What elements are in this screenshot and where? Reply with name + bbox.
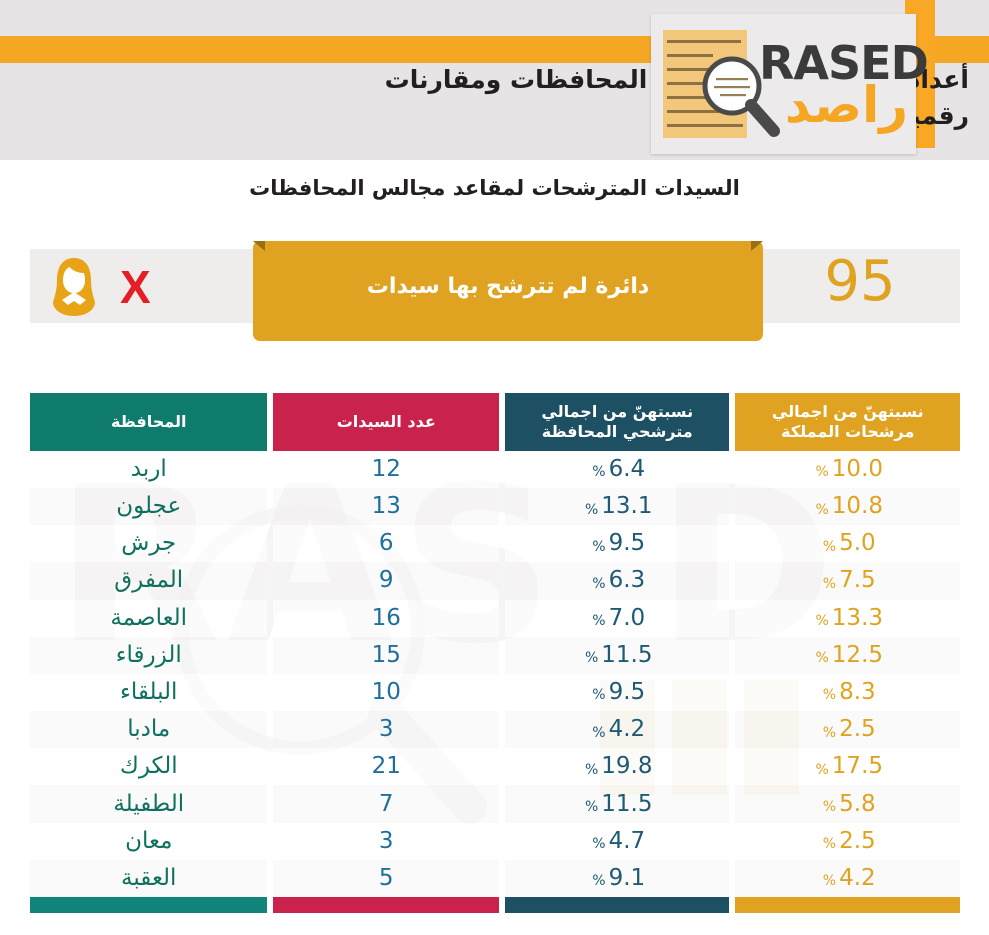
cell-value: 8.3 [839,681,876,704]
cell-value: 7.5 [839,569,876,592]
column-pct-governorate: نسبتهنّ من اجمالي مترشحي المحافظة 6.4%13… [505,393,730,913]
cell-value: 9.5 [609,532,646,555]
cell-value: جرش [121,532,176,555]
cell-value: 13 [372,495,401,518]
cell-value: 12.5 [832,644,883,667]
table-cell-count: 3 [273,711,499,748]
table-cell-pct_kingdom: 17.5% [735,748,960,785]
table-cell-pct_kingdom: 10.8% [735,488,960,525]
x-mark-icon: X [120,264,151,310]
cell-value: 11.5 [601,644,652,667]
percent-sign: % [585,651,598,665]
table-cell-governorate: مادبا [30,711,267,748]
cell-value: 3 [379,718,394,741]
table-cell-governorate: العقبة [30,860,267,897]
table-cell-count: 3 [273,823,499,860]
ribbon-fold-right-icon [751,241,763,251]
cell-value: 11.5 [601,793,652,816]
table-cell-count: 10 [273,674,499,711]
cell-value: 7.0 [609,607,646,630]
table-cell-pct_gov: 6.3% [505,562,730,599]
cell-value: اربد [131,458,167,481]
percent-sign: % [823,726,836,740]
table-cell-count: 21 [273,748,499,785]
banner-label: دائرة لم تترشح بها سيدات [253,274,763,299]
page-header: أعداد المترشحين لمجالس المحافظات ومقارنا… [0,0,989,160]
percent-sign: % [585,503,598,517]
column-header-pct-governorate: نسبتهنّ من اجمالي مترشحي المحافظة [505,393,730,451]
cell-value: 6 [379,532,394,555]
cell-value: مادبا [127,718,170,741]
percent-sign: % [592,577,605,591]
table-cell-pct_gov: 9.5% [505,525,730,562]
table-cell-pct_gov: 4.7% [505,823,730,860]
percent-sign: % [592,726,605,740]
percent-sign: % [592,614,605,628]
table-cell-pct_gov: 7.0% [505,600,730,637]
column-pct-kingdom: نسبتهنّ من اجمالي مرشحات المملكة 10.0%10… [735,393,960,913]
cell-value: المفرق [114,569,183,592]
cell-value: 7 [379,793,394,816]
table-cell-pct_gov: 19.8% [505,748,730,785]
column-footer-women-count [273,897,499,913]
table-cell-governorate: الزرقاء [30,637,267,674]
cell-value: معان [125,830,172,853]
banner-ribbon: دائرة لم تترشح بها سيدات [253,241,763,341]
column-header-governorate: المحافظة [30,393,267,451]
logo-text-ar: راصد [785,80,908,130]
table-cell-governorate: معان [30,823,267,860]
table-cell-pct_gov: 9.5% [505,674,730,711]
section-subtitle: السيدات المترشحات لمقاعد مجالس المحافظات [0,176,989,200]
column-body-pct-governorate: 6.4%13.1%9.5%6.3%7.0%11.5%9.5%4.2%19.8%1… [505,451,730,897]
table-cell-governorate: اربد [30,451,267,488]
column-footer-governorate [30,897,267,913]
cell-value: 5.0 [839,532,876,555]
percent-sign: % [585,763,598,777]
table-cell-governorate: الكرك [30,748,267,785]
cell-value: الزرقاء [116,644,182,667]
table-cell-governorate: البلقاء [30,674,267,711]
cell-value: 2.5 [839,830,876,853]
cell-value: 10 [372,681,401,704]
table-cell-pct_kingdom: 5.0% [735,525,960,562]
percent-sign: % [823,874,836,888]
table-cell-governorate: المفرق [30,562,267,599]
column-footer-pct-kingdom [735,897,960,913]
percent-sign: % [592,688,605,702]
cell-value: 9 [379,569,394,592]
cell-value: 3 [379,830,394,853]
woman-icon [48,256,100,318]
table-cell-pct_kingdom: 13.3% [735,600,960,637]
banner-value: 95 [795,254,925,310]
infographic-page: أعداد المترشحين لمجالس المحافظات ومقارنا… [0,0,989,935]
cell-value: 16 [372,607,401,630]
column-governorate: المحافظة اربدعجلونجرشالمفرقالعاصمةالزرقا… [30,393,267,913]
table-cell-governorate: عجلون [30,488,267,525]
percent-sign: % [823,837,836,851]
cell-value: 17.5 [832,755,883,778]
cell-value: 4.7 [609,830,646,853]
table-cell-count: 13 [273,488,499,525]
cell-value: الطفيلة [113,793,184,816]
cell-value: البلقاء [120,681,177,704]
table-cell-pct_kingdom: 4.2% [735,860,960,897]
ribbon-fold-left-icon [253,241,265,251]
cell-value: العقبة [121,867,176,890]
cell-value: 9.5 [609,681,646,704]
data-table: نسبتهنّ من اجمالي مرشحات المملكة 10.0%10… [30,393,960,913]
table-cell-count: 15 [273,637,499,674]
table-cell-pct_kingdom: 5.8% [735,785,960,822]
column-body-women-count: 121369161510321735 [273,451,499,897]
rased-logo: RASED راصد [651,14,916,154]
percent-sign: % [815,614,828,628]
table-cell-pct_gov: 11.5% [505,785,730,822]
percent-sign: % [823,688,836,702]
table-cell-count: 7 [273,785,499,822]
percent-sign: % [815,763,828,777]
percent-sign: % [815,465,828,479]
cell-value: 15 [372,644,401,667]
table-cell-governorate: جرش [30,525,267,562]
table-cell-governorate: الطفيلة [30,785,267,822]
cell-value: 6.3 [609,569,646,592]
percent-sign: % [592,837,605,851]
table-cell-count: 12 [273,451,499,488]
table-cell-pct_kingdom: 10.0% [735,451,960,488]
column-header-pct-kingdom: نسبتهنّ من اجمالي مرشحات المملكة [735,393,960,451]
cell-value: 5.8 [839,793,876,816]
column-footer-pct-governorate [505,897,730,913]
cell-value: الكرك [120,755,178,778]
table-cell-pct_gov: 9.1% [505,860,730,897]
cell-value: 6.4 [609,458,646,481]
column-body-governorate: اربدعجلونجرشالمفرقالعاصمةالزرقاءالبلقاءم… [30,451,267,897]
percent-sign: % [823,540,836,554]
banner-icon-group: X [48,256,188,318]
percent-sign: % [823,800,836,814]
percent-sign: % [592,874,605,888]
cell-value: 4.2 [609,718,646,741]
table-cell-pct_gov: 6.4% [505,451,730,488]
column-body-pct-kingdom: 10.0%10.8%5.0%7.5%13.3%12.5%8.3%2.5%17.5… [735,451,960,897]
table-cell-count: 6 [273,525,499,562]
percent-sign: % [815,651,828,665]
table-cell-pct_gov: 4.2% [505,711,730,748]
cell-value: 2.5 [839,718,876,741]
cell-value: 9.1 [609,867,646,890]
table-cell-count: 5 [273,860,499,897]
percent-sign: % [592,465,605,479]
cell-value: 21 [372,755,401,778]
table-cell-pct_kingdom: 7.5% [735,562,960,599]
cell-value: 5 [379,867,394,890]
percent-sign: % [585,800,598,814]
cell-value: 12 [372,458,401,481]
table-cell-count: 9 [273,562,499,599]
percent-sign: % [823,577,836,591]
table-cell-pct_gov: 13.1% [505,488,730,525]
table-cell-governorate: العاصمة [30,600,267,637]
table-cell-pct_kingdom: 12.5% [735,637,960,674]
cell-value: 13.3 [832,607,883,630]
table-cell-pct_kingdom: 2.5% [735,823,960,860]
table-cell-count: 16 [273,600,499,637]
percent-sign: % [592,540,605,554]
table-cell-pct_kingdom: 8.3% [735,674,960,711]
cell-value: 13.1 [601,495,652,518]
table-cell-pct_gov: 11.5% [505,637,730,674]
cell-value: 10.8 [832,495,883,518]
column-women-count: عدد السيدات 121369161510321735 [273,393,499,913]
cell-value: عجلون [116,495,181,518]
cell-value: 10.0 [832,458,883,481]
cell-value: العاصمة [110,607,187,630]
cell-value: 19.8 [601,755,652,778]
cell-value: 4.2 [839,867,876,890]
percent-sign: % [815,503,828,517]
table-cell-pct_kingdom: 2.5% [735,711,960,748]
column-header-women-count: عدد السيدات [273,393,499,451]
